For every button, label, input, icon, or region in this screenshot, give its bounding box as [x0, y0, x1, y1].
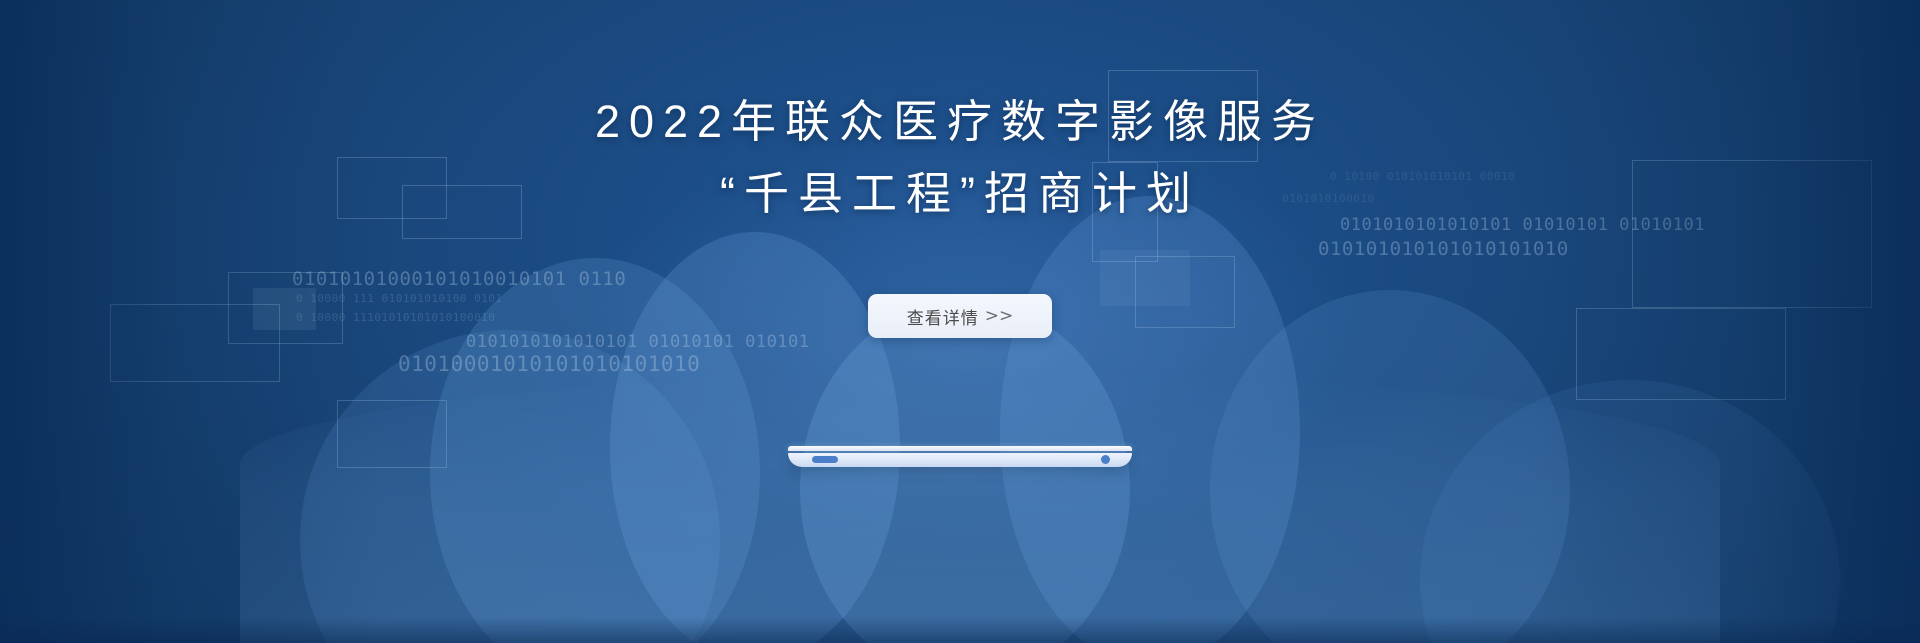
title-line-1: 2022年联众医疗数字影像服务 — [0, 86, 1920, 158]
device-indicator-dot-icon — [1101, 455, 1110, 464]
view-details-button[interactable]: 查看详情 >> — [868, 294, 1052, 338]
binary-string-5: 01010001010101010101010 — [398, 352, 700, 376]
laptop-device-illustration — [788, 446, 1132, 467]
view-details-label: 查看详情 — [907, 304, 979, 329]
binary-string-7: 010101010101010101010 — [1318, 238, 1569, 260]
device-screen-edge — [788, 446, 1132, 451]
binary-string-1: 01010101000101010010101 0110 — [292, 268, 626, 290]
promo-banner: 01010101000101010010101 0110 0 10000 111… — [0, 0, 1920, 643]
banner-title: 2022年联众医疗数字影像服务 “千县工程”招商计划 — [0, 86, 1920, 230]
double-chevron-right-icon: >> — [985, 306, 1014, 326]
title-line-2: “千县工程”招商计划 — [0, 158, 1920, 230]
device-speaker-pill-icon — [812, 456, 838, 463]
device-base — [788, 453, 1132, 467]
cta-container: 查看详情 >> — [0, 294, 1920, 338]
